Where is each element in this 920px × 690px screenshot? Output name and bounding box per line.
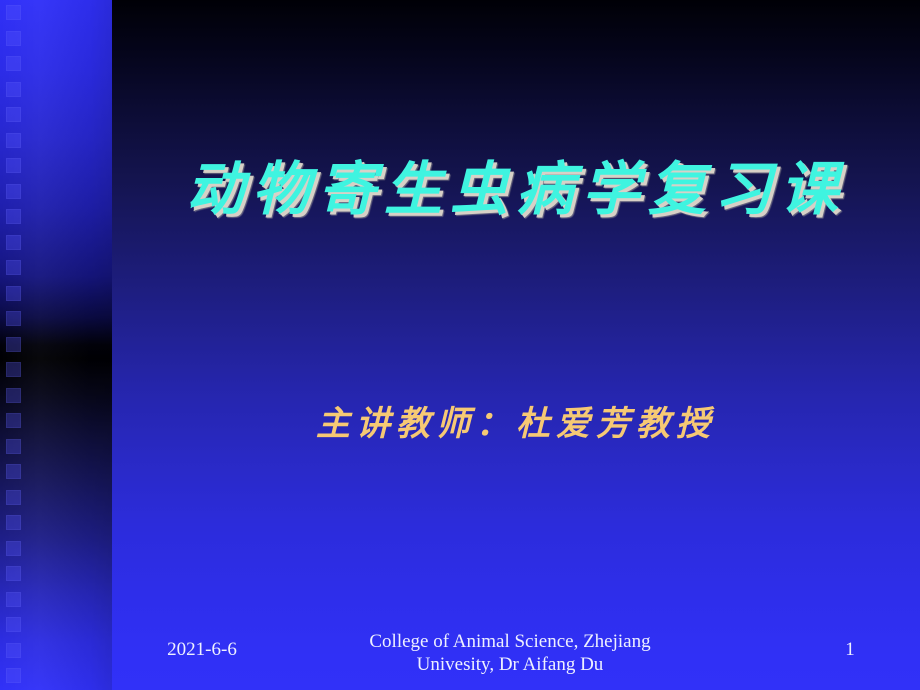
decorative-square — [6, 541, 21, 556]
footer-date: 2021-6-6 — [112, 638, 292, 661]
decorative-square — [6, 235, 21, 250]
decorative-square — [6, 184, 21, 199]
decorative-square — [6, 515, 21, 530]
footer-affiliation: College of Animal Science, Zhejiang Univ… — [350, 630, 670, 676]
decorative-square — [6, 286, 21, 301]
decorative-square — [6, 56, 21, 71]
decorative-square — [6, 311, 21, 326]
decorative-square — [6, 82, 21, 97]
slide-background — [112, 0, 920, 690]
decorative-square — [6, 158, 21, 173]
decorative-square — [6, 668, 21, 683]
decorative-square — [6, 464, 21, 479]
decorative-square — [6, 592, 21, 607]
decorative-square — [6, 209, 21, 224]
decorative-square — [6, 107, 21, 122]
footer-affiliation-line-2: Univesity, Dr Aifang Du — [350, 653, 670, 676]
decorative-square — [6, 490, 21, 505]
footer-affiliation-line-1: College of Animal Science, Zhejiang — [350, 630, 670, 653]
decorative-square — [6, 413, 21, 428]
decorative-square — [6, 388, 21, 403]
decorative-square — [6, 5, 21, 20]
decorative-square — [6, 260, 21, 275]
presentation-slide: 动物寄生虫病学复习课 主讲教师：杜爱芳教授 2021-6-6 College o… — [0, 0, 920, 690]
decorative-square — [6, 566, 21, 581]
slide-subtitle: 主讲教师：杜爱芳教授 — [112, 396, 920, 445]
decorative-square — [6, 31, 21, 46]
decorative-square — [6, 133, 21, 148]
decorative-square — [6, 362, 21, 377]
footer-page-number: 1 — [820, 638, 880, 661]
decorative-square — [6, 617, 21, 632]
decorative-square — [6, 337, 21, 352]
decorative-square — [6, 439, 21, 454]
decorative-square — [6, 643, 21, 658]
decorative-square-column — [6, 0, 21, 690]
slide-title: 动物寄生虫病学复习课 — [112, 142, 920, 226]
